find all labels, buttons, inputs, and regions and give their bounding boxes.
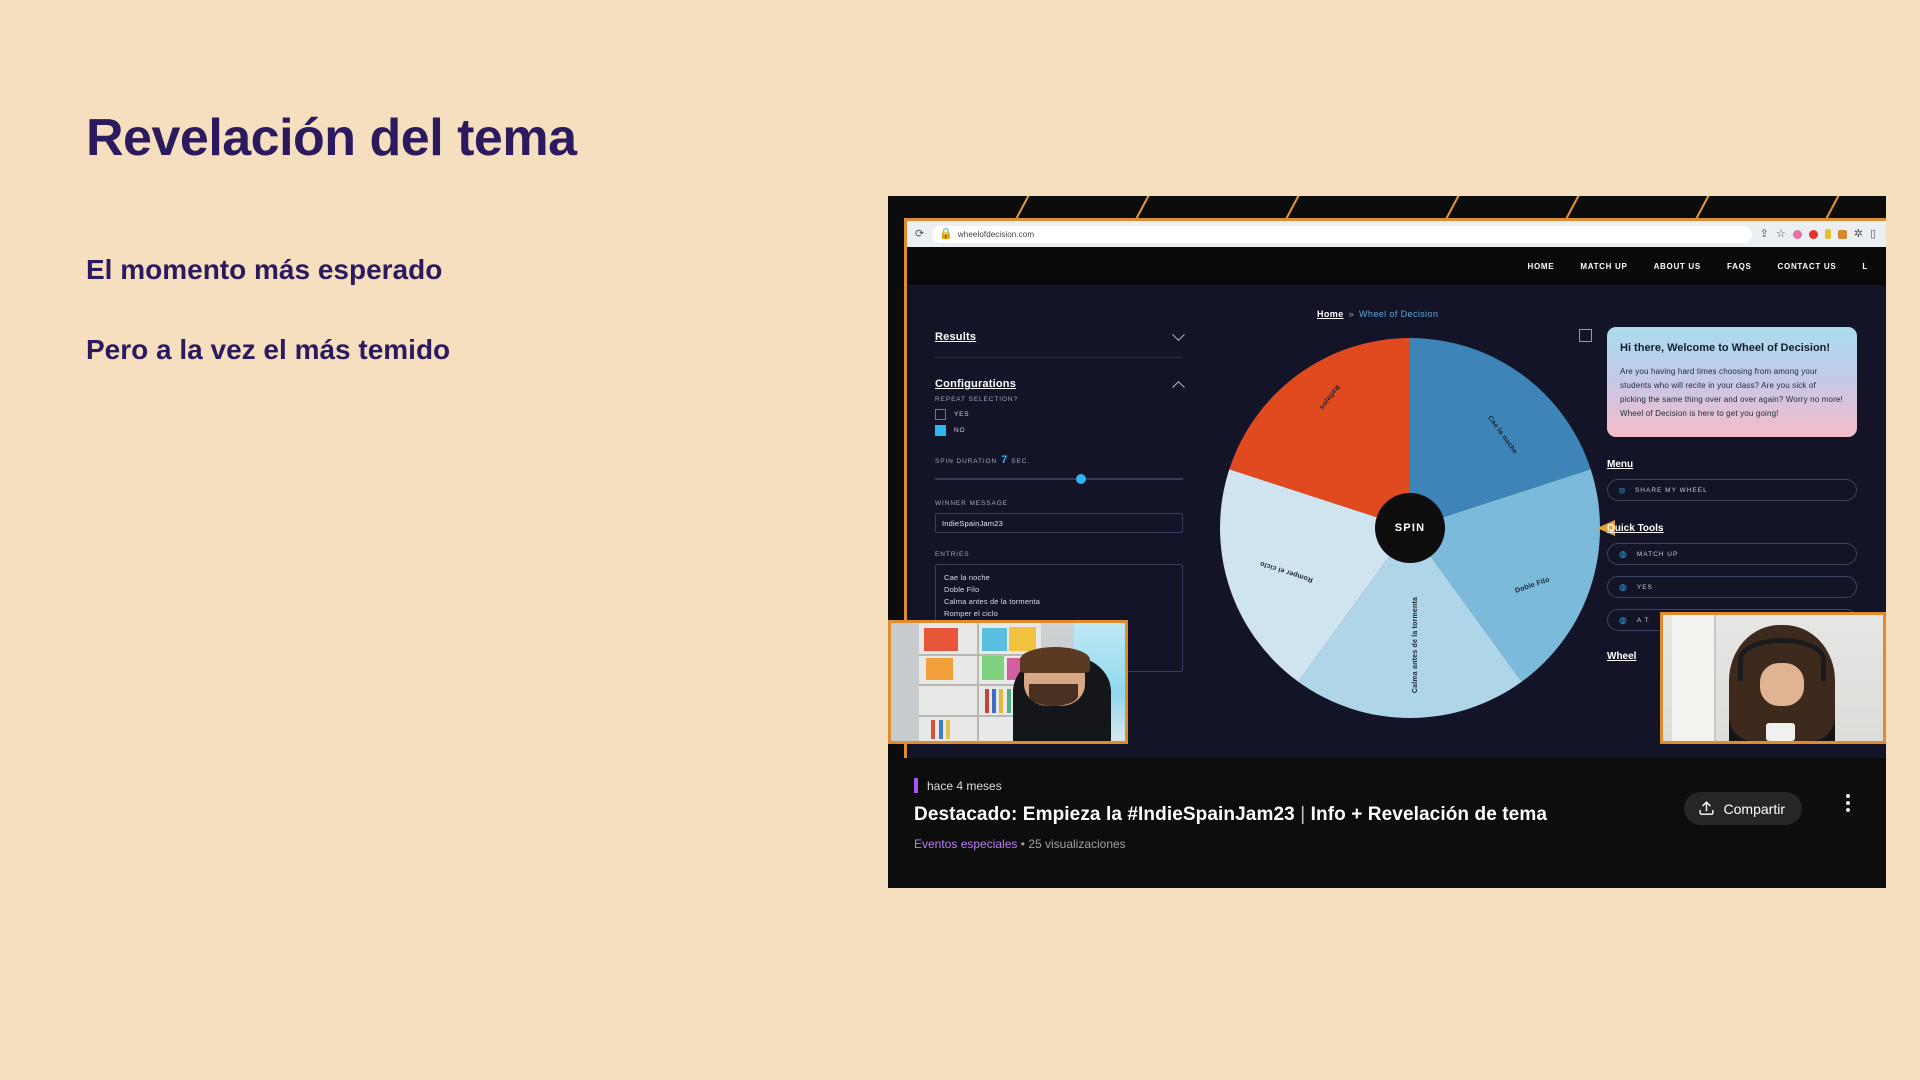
entries-label: ENTRIES bbox=[935, 551, 1183, 558]
breadcrumb-separator: » bbox=[1349, 309, 1354, 319]
share-my-wheel-button[interactable]: ⦻ SHARE MY WHEEL bbox=[1607, 479, 1857, 501]
nav-item-login[interactable]: L bbox=[1862, 262, 1868, 271]
results-label: Results bbox=[935, 331, 976, 343]
video-player-card: ⟳ 🔒 wheelofdecision.com ⇪ ☆ ✲ ▯ HOME MAT… bbox=[888, 196, 1886, 888]
nav-item-match-up[interactable]: MATCH UP bbox=[1580, 262, 1627, 271]
webcam-left-video bbox=[891, 623, 1125, 741]
browser-toolbar-icons[interactable]: ⇪ ☆ ✲ ▯ bbox=[1760, 229, 1878, 240]
door bbox=[1672, 615, 1716, 741]
spin-duration-slider[interactable] bbox=[935, 478, 1183, 480]
results-section-header[interactable]: Results bbox=[935, 331, 1183, 349]
radio-yes-label: YES bbox=[954, 411, 969, 418]
kebab-menu-icon[interactable] bbox=[1846, 794, 1850, 812]
spin-duration-value: 7 bbox=[1001, 454, 1007, 466]
channel-name[interactable]: Eventos especiales bbox=[914, 837, 1017, 851]
expand-icon[interactable] bbox=[1579, 329, 1592, 342]
bookmark-yellow-icon[interactable] bbox=[1825, 229, 1831, 239]
share-button[interactable]: Compartir bbox=[1684, 792, 1802, 825]
headset-icon bbox=[1738, 638, 1826, 681]
repeat-selection-label: REPEAT SELECTION? bbox=[935, 396, 1183, 403]
welcome-title: Hi there, Welcome to Wheel of Decision! bbox=[1620, 341, 1844, 356]
quick-tools-heading: Quick Tools bbox=[1607, 523, 1857, 534]
nav-item-home[interactable]: HOME bbox=[1528, 262, 1555, 271]
extension-pink-icon[interactable] bbox=[1793, 230, 1802, 239]
webcam-right-video bbox=[1663, 615, 1883, 741]
reload-icon[interactable]: ⟳ bbox=[915, 229, 924, 240]
share-nodes-icon: ⦻ bbox=[1619, 486, 1625, 495]
video-title-separator: | bbox=[1300, 804, 1305, 825]
breadcrumb: Home»Wheel of Decision bbox=[1317, 309, 1438, 319]
extension-orange-icon[interactable] bbox=[1838, 230, 1847, 239]
wheel-icon: ◍ bbox=[1619, 583, 1627, 592]
menu-heading: Menu bbox=[1607, 459, 1857, 470]
breadcrumb-home[interactable]: Home bbox=[1317, 309, 1344, 319]
meta-separator: • bbox=[1021, 837, 1025, 851]
nav-item-about-us[interactable]: ABOUT US bbox=[1654, 262, 1701, 271]
puzzle-icon[interactable]: ✲ bbox=[1854, 229, 1863, 240]
spin-duration-text: SPIN DURATION bbox=[935, 458, 997, 465]
profile-icon[interactable]: ▯ bbox=[1870, 229, 1876, 240]
breadcrumb-current: Wheel of Decision bbox=[1359, 309, 1438, 319]
slide-subtitle-1: El momento más esperado bbox=[86, 253, 706, 287]
radio-yes-box[interactable] bbox=[935, 409, 946, 420]
spin-duration-unit: SEC. bbox=[1011, 458, 1030, 465]
spin-button-label: SPIN bbox=[1395, 522, 1425, 534]
entry-item: Calma antes de la tormenta bbox=[944, 596, 1174, 608]
published-row: hace 4 meses bbox=[914, 778, 1860, 793]
nav-item-faqs[interactable]: FAQS bbox=[1727, 262, 1752, 271]
slider-thumb[interactable] bbox=[1076, 474, 1086, 484]
slide-text-column: Revelación del tema El momento más esper… bbox=[86, 110, 706, 366]
webcam-participant-right bbox=[1660, 612, 1886, 744]
share-button-label: Compartir bbox=[1724, 801, 1785, 817]
configurations-label: Configurations bbox=[935, 378, 1016, 390]
wheel-label-2: Calma antes de la tormenta bbox=[1412, 597, 1419, 693]
published-time: hace 4 meses bbox=[927, 779, 1002, 793]
quick-tool-yes[interactable]: ◍ YES bbox=[1607, 576, 1857, 598]
divider bbox=[935, 357, 1183, 358]
site-navigation: HOME MATCH UP ABOUT US FAQS CONTACT US L bbox=[907, 247, 1886, 285]
share-my-wheel-label: SHARE MY WHEEL bbox=[1635, 487, 1708, 494]
share-icon[interactable]: ⇪ bbox=[1760, 229, 1769, 240]
repeat-selection-no[interactable]: NO bbox=[935, 425, 1183, 436]
slide-subtitle-2: Pero a la vez el más temido bbox=[86, 333, 706, 367]
entry-item: Doble Filo bbox=[944, 584, 1174, 596]
configurations-section-header[interactable]: Configurations bbox=[935, 378, 1183, 396]
opera-red-icon[interactable] bbox=[1809, 230, 1818, 239]
url-text: wheelofdecision.com bbox=[958, 230, 1034, 239]
welcome-card: Hi there, Welcome to Wheel of Decision! … bbox=[1607, 327, 1857, 437]
chevron-down-icon[interactable] bbox=[1172, 328, 1185, 341]
radio-no-box[interactable] bbox=[935, 425, 946, 436]
winner-message-input[interactable]: IndieSpainJam23 bbox=[935, 513, 1183, 533]
entry-item: Cae la noche bbox=[944, 572, 1174, 584]
video-title-rest: Info + Revelación de tema bbox=[1311, 804, 1547, 825]
person-beard bbox=[1029, 684, 1078, 705]
radio-no-label: NO bbox=[954, 427, 965, 434]
cup bbox=[1766, 723, 1795, 741]
chevron-up-icon[interactable] bbox=[1172, 380, 1185, 393]
quick-tool-label: YES bbox=[1637, 584, 1653, 591]
accent-bar bbox=[914, 778, 918, 793]
spin-duration-label: SPIN DURATION 7 SEC. bbox=[935, 454, 1183, 466]
quick-tool-label: MATCH UP bbox=[1637, 551, 1678, 558]
wheel-icon: ◍ bbox=[1619, 550, 1627, 559]
browser-url-bar: ⟳ 🔒 wheelofdecision.com ⇪ ☆ ✲ ▯ bbox=[907, 221, 1886, 247]
winner-message-label: WINNER MESSAGE bbox=[935, 500, 1183, 507]
webcam-participant-left bbox=[888, 620, 1128, 744]
welcome-body: Are you having hard times choosing from … bbox=[1620, 365, 1844, 422]
entry-item: Romper el ciclo bbox=[944, 608, 1174, 620]
decision-wheel[interactable]: Cae la noche Doble Filo Calma antes de l… bbox=[1215, 333, 1605, 723]
repeat-selection-yes[interactable]: YES bbox=[935, 409, 1183, 420]
page-title: Revelación del tema bbox=[86, 110, 706, 167]
upload-share-icon bbox=[1698, 800, 1715, 817]
star-icon[interactable]: ☆ bbox=[1776, 229, 1786, 240]
quick-tool-label: A T bbox=[1637, 617, 1650, 624]
nav-item-contact-us[interactable]: CONTACT US bbox=[1778, 262, 1837, 271]
view-count: 25 visualizaciones bbox=[1028, 837, 1125, 851]
lock-icon: 🔒 bbox=[939, 229, 953, 240]
quick-tool-match-up[interactable]: ◍ MATCH UP bbox=[1607, 543, 1857, 565]
video-info-bar: hace 4 meses Destacado: Empieza la #Indi… bbox=[888, 758, 1886, 888]
video-meta-row: Eventos especiales • 25 visualizaciones bbox=[914, 837, 1860, 851]
spin-button[interactable]: SPIN bbox=[1375, 493, 1445, 563]
wheel-icon: ◍ bbox=[1619, 616, 1627, 625]
video-title-main: Destacado: Empieza la #IndieSpainJam23 bbox=[914, 804, 1295, 825]
person-hair bbox=[1020, 647, 1090, 673]
address-bar[interactable]: 🔒 wheelofdecision.com bbox=[932, 226, 1751, 243]
